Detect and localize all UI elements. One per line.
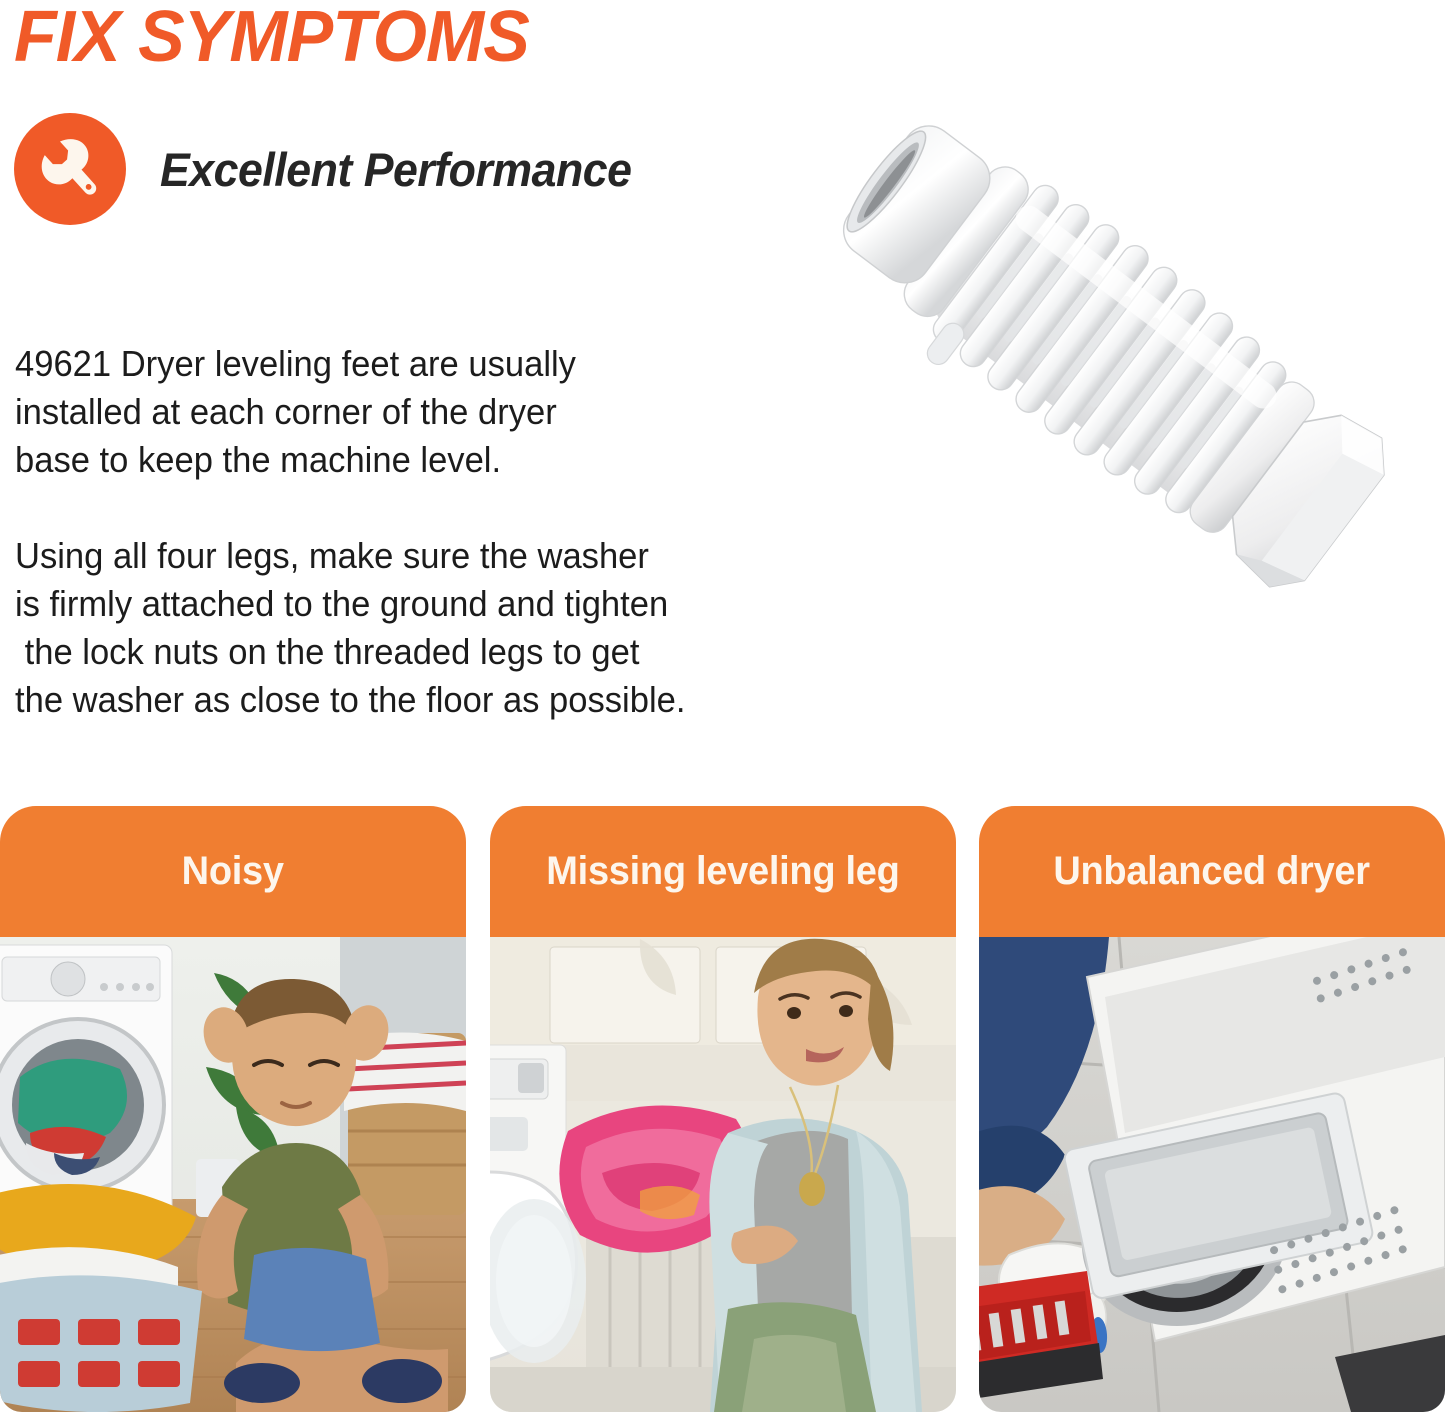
panel-title-missing-leg: Missing leveling leg: [546, 849, 899, 894]
description-paragraph-2: Using all four legs, make sure the washe…: [15, 532, 812, 724]
wrench-icon: [33, 132, 107, 206]
description-paragraph-1: 49621 Dryer leveling feet are usually in…: [15, 340, 812, 484]
paragraph-spacer: [15, 484, 812, 532]
panel-title-unbalanced-dryer: Unbalanced dryer: [1054, 849, 1370, 894]
panel-title-noisy: Noisy: [182, 849, 284, 894]
panel-header-noisy: Noisy: [0, 806, 466, 937]
wrench-badge: [14, 113, 126, 225]
symptom-panel-unbalanced-dryer: Unbalanced dryer: [979, 806, 1445, 1412]
page-title: FIX SYMPTOMS: [14, 0, 529, 78]
symptom-panels: Noisy: [0, 806, 1445, 1416]
product-image: [770, 45, 1440, 635]
description-block: 49621 Dryer leveling feet are usually in…: [15, 340, 812, 724]
feature-badge-row: Excellent Performance: [14, 113, 656, 225]
panel-header-missing-leg: Missing leveling leg: [490, 806, 956, 937]
symptom-panel-noisy: Noisy: [0, 806, 466, 1412]
symptom-panel-missing-leg: Missing leveling leg: [490, 806, 956, 1412]
panel-header-unbalanced-dryer: Unbalanced dryer: [979, 806, 1445, 937]
feature-subtitle: Excellent Performance: [160, 142, 631, 197]
infographic-page: FIX SYMPTOMS Excellent Performance 49621…: [0, 0, 1445, 1419]
man-covering-ears-beside-washer-photo: [0, 937, 466, 1412]
woman-with-pink-towel-beside-washer-photo: [490, 937, 956, 1412]
technician-repairing-tilted-dryer-photo: [979, 937, 1445, 1412]
